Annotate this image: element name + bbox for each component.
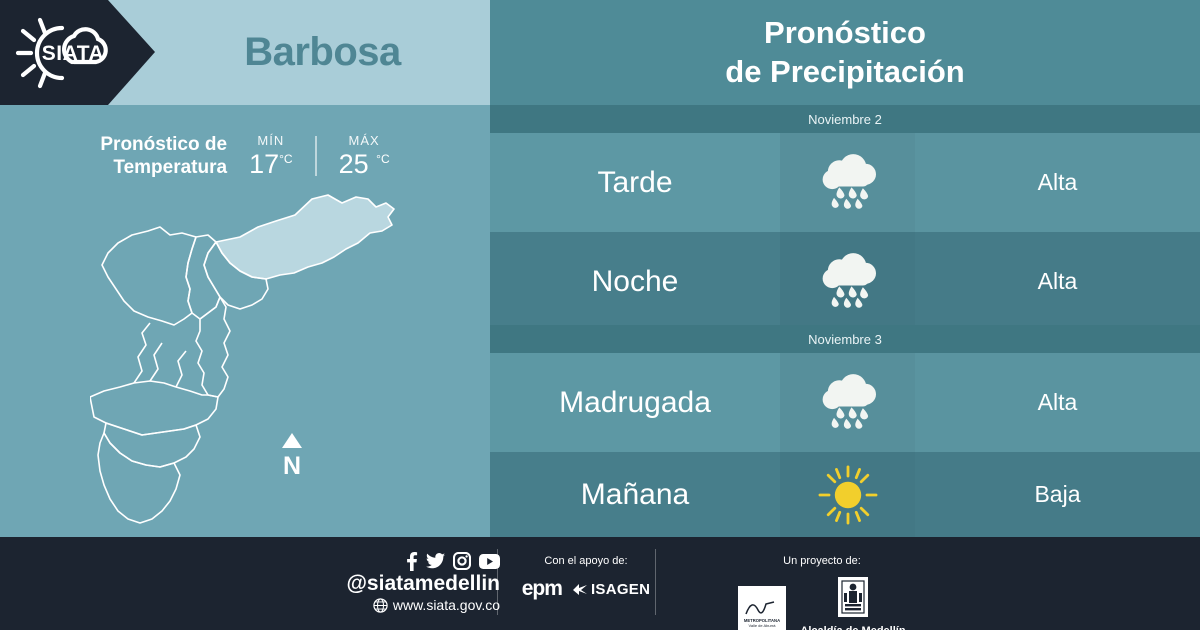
epm-logo: epm bbox=[522, 577, 562, 601]
twitter-icon[interactable] bbox=[426, 553, 445, 569]
forecast-period: Mañana bbox=[490, 452, 780, 537]
temperature-title: Pronóstico de Temperatura bbox=[100, 133, 227, 179]
map-region-itagui bbox=[90, 381, 218, 435]
social-icons bbox=[300, 551, 500, 571]
north-arrow-icon: N bbox=[275, 430, 309, 478]
facebook-icon[interactable] bbox=[405, 552, 418, 571]
project-logos: METROPOLITANA Valle de Aburrá bbox=[712, 577, 932, 630]
siata-logo-icon: SIATA bbox=[14, 14, 134, 92]
sun-icon bbox=[780, 452, 915, 537]
temperature-max: MÁX 25 °C bbox=[339, 133, 390, 180]
forecast-row: Noche Alta bbox=[490, 232, 1200, 331]
rain-cloud-icon bbox=[780, 232, 915, 331]
header: SIATA Barbosa bbox=[0, 0, 490, 105]
rain-cloud-icon bbox=[780, 133, 915, 232]
temperature-min-label: MÍN bbox=[249, 133, 293, 148]
temperature-title-line2: Temperatura bbox=[100, 156, 227, 179]
map-region-bello bbox=[102, 227, 196, 325]
temperature-min-value: 17°C bbox=[249, 149, 293, 180]
area-line2: Valle de Aburrá bbox=[749, 623, 777, 628]
temperature-max-value: 25 °C bbox=[339, 149, 390, 180]
forecast-panel: Pronóstico de Precipitación Noviembre 2 … bbox=[490, 0, 1200, 537]
forecast-row: Mañana bbox=[490, 452, 1200, 537]
north-label: N bbox=[283, 452, 301, 478]
isagen-mark-icon bbox=[572, 583, 588, 596]
city-name: Barbosa bbox=[155, 0, 490, 105]
forecast-title-line2: de Precipitación bbox=[725, 53, 964, 92]
area-metropolitana-logo: METROPOLITANA Valle de Aburrá bbox=[738, 586, 786, 630]
forecast-row: Tarde Alta bbox=[490, 133, 1200, 232]
project-caption: Un proyecto de: bbox=[712, 555, 932, 567]
weather-forecast-infographic: SIATA Barbosa Pronóstico de Temperatura … bbox=[0, 0, 1200, 630]
project-block: Un proyecto de: METROPOLITANA Valle de A… bbox=[712, 555, 932, 630]
map-region-barbosa bbox=[216, 195, 394, 279]
date-band-1: Noviembre 2 bbox=[490, 105, 1200, 133]
forecast-period: Madrugada bbox=[490, 353, 780, 452]
forecast-probability: Alta bbox=[915, 232, 1200, 331]
temperature-min: MÍN 17°C bbox=[249, 133, 293, 180]
isagen-logo: ISAGEN bbox=[572, 581, 650, 598]
temperature-block: Pronóstico de Temperatura MÍN 17°C MÁX 2… bbox=[0, 121, 490, 191]
youtube-icon[interactable] bbox=[479, 554, 500, 569]
svg-text:SIATA: SIATA bbox=[42, 42, 104, 65]
map-region-medellin bbox=[196, 297, 230, 397]
forecast-title-line1: Pronóstico bbox=[764, 14, 926, 53]
forecast-period: Noche bbox=[490, 232, 780, 331]
aburra-valley-map bbox=[90, 185, 430, 530]
social-handle[interactable]: @siatamedellin bbox=[300, 572, 500, 596]
globe-icon bbox=[373, 598, 388, 613]
forecast-probability: Baja bbox=[915, 452, 1200, 537]
map-region-envigado bbox=[104, 423, 200, 467]
temperature-max-label: MÁX bbox=[339, 133, 390, 148]
map-region-copacabana bbox=[186, 235, 220, 319]
map-panel: Pronóstico de Temperatura MÍN 17°C MÁX 2… bbox=[0, 105, 490, 537]
temperature-divider bbox=[315, 136, 317, 176]
temperature-title-line1: Pronóstico de bbox=[100, 133, 227, 156]
map-region-caldas bbox=[98, 433, 180, 523]
forecast-title: Pronóstico de Precipitación bbox=[490, 0, 1200, 105]
footer: @siatamedellin www.siata.gov.co Con el a… bbox=[0, 537, 1200, 630]
support-logos: epm ISAGEN bbox=[516, 577, 656, 601]
alcaldia-logo: Alcaldía de Medellín bbox=[800, 577, 905, 630]
website-line[interactable]: www.siata.gov.co bbox=[300, 597, 500, 613]
website-text: www.siata.gov.co bbox=[393, 597, 500, 613]
forecast-row: Madrugada Alta bbox=[490, 353, 1200, 452]
social-block: @siatamedellin www.siata.gov.co bbox=[300, 551, 500, 613]
forecast-period: Tarde bbox=[490, 133, 780, 232]
forecast-probability: Alta bbox=[915, 353, 1200, 452]
support-block: Con el apoyo de: epm ISAGEN bbox=[516, 555, 656, 601]
alcaldia-name: Alcaldía de Medellín bbox=[800, 625, 905, 630]
rain-cloud-icon bbox=[780, 353, 915, 452]
support-caption: Con el apoyo de: bbox=[516, 555, 656, 567]
forecast-probability: Alta bbox=[915, 133, 1200, 232]
instagram-icon[interactable] bbox=[453, 552, 471, 570]
date-band-2: Noviembre 3 bbox=[490, 325, 1200, 353]
